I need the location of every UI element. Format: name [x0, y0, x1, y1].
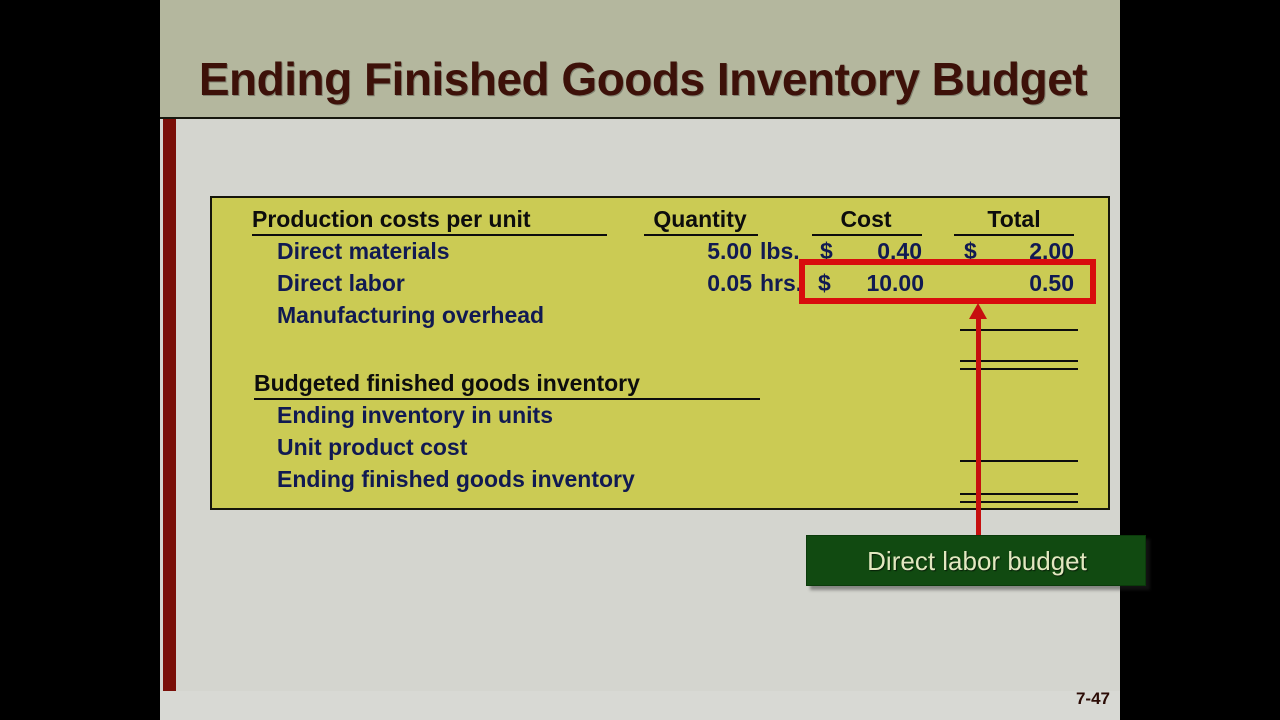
row-label-manufacturing-overhead: Manufacturing overhead	[277, 299, 544, 331]
section-header-budgeted-inventory: Budgeted finished goods inventory	[254, 367, 640, 399]
callout-direct-labor-budget: Direct labor budget	[806, 535, 1146, 586]
direct-labor-unit: hrs.	[760, 267, 806, 299]
direct-labor-cost: 10.00	[834, 267, 924, 299]
direct-materials-cost-symbol: $	[820, 235, 840, 267]
column-header-quantity: Quantity	[642, 203, 758, 235]
presentation-slide: Ending Finished Goods Inventory Budget 7…	[160, 0, 1120, 720]
direct-materials-cost: 0.40	[842, 235, 922, 267]
row-label-ending-inventory-units: Ending inventory in units	[277, 399, 553, 431]
slide-title-band: Ending Finished Goods Inventory Budget	[160, 0, 1120, 119]
section-header-production-costs: Production costs per unit	[252, 203, 531, 235]
direct-materials-quantity: 5.00	[642, 235, 752, 267]
slide-footer-strip	[160, 691, 1120, 720]
row-label-unit-product-cost: Unit product cost	[277, 431, 467, 463]
direct-materials-total: 2.00	[992, 235, 1074, 267]
callout-label: Direct labor budget	[807, 546, 1147, 577]
callout-arrow-shaft	[976, 316, 981, 538]
direct-labor-total: 0.50	[992, 267, 1074, 299]
row-label-direct-materials: Direct materials	[277, 235, 450, 267]
direct-materials-total-symbol: $	[964, 235, 984, 267]
row-label-ending-finished-goods-inventory: Ending finished goods inventory	[277, 463, 635, 495]
column-header-total: Total	[952, 203, 1076, 235]
page-number: 7-47	[1050, 689, 1110, 709]
ending-finished-goods-inventory-table: Production costs per unit Quantity Cost …	[210, 196, 1110, 510]
direct-materials-unit: lbs.	[760, 235, 806, 267]
left-accent-bar	[163, 119, 176, 691]
column-header-cost: Cost	[810, 203, 922, 235]
direct-labor-quantity: 0.05	[642, 267, 752, 299]
page-title: Ending Finished Goods Inventory Budget	[178, 52, 1108, 106]
row-label-direct-labor: Direct labor	[277, 267, 405, 299]
